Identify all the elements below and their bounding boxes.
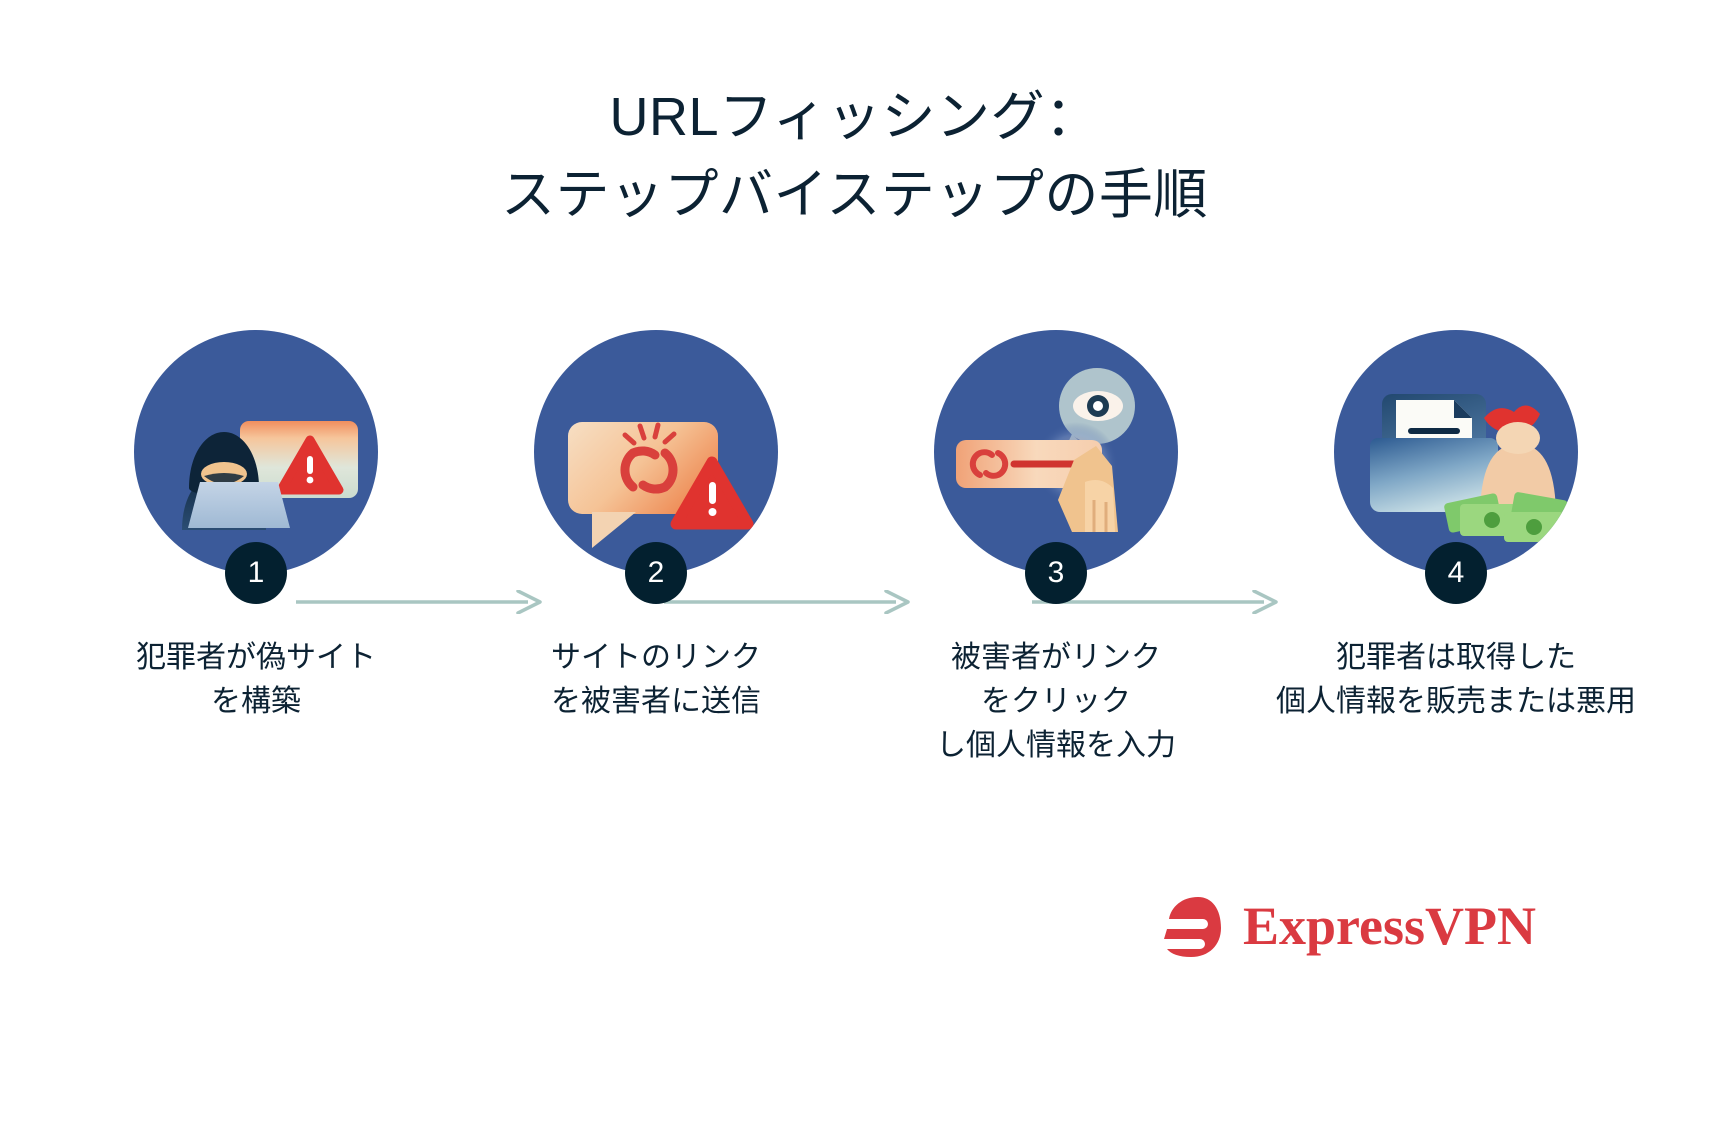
step-3-number-badge: 3 [1025, 542, 1087, 604]
step-1-illustration [134, 330, 378, 574]
step-4-caption: 犯罪者は取得した 個人情報を販売または悪用 [1276, 636, 1636, 724]
folder-documents-icon [1370, 394, 1498, 512]
step-3-caption: 被害者がリンク をクリック し個人情報を入力 [936, 636, 1176, 768]
step-1-caption-line-1: 犯罪者が偽サイト [136, 636, 376, 680]
expressvpn-logo: ExpressVPN [1163, 895, 1536, 957]
step-1: 1 犯罪者が偽サイト を構築 [96, 330, 416, 724]
expressvpn-wordmark: ExpressVPN [1243, 899, 1536, 953]
step-4-number-badge: 4 [1425, 542, 1487, 604]
step-2: 2 サイトのリンク を被害者に送信 [496, 330, 816, 724]
step-4-caption-line-1: 犯罪者は取得した [1276, 636, 1636, 680]
step-2-illustration [534, 330, 778, 574]
step-4: 4 犯罪者は取得した 個人情報を販売または悪用 [1296, 330, 1616, 724]
step-4-caption-line-2: 個人情報を販売または悪用 [1276, 680, 1636, 724]
step-3-caption-line-3: し個人情報を入力 [936, 724, 1176, 768]
step-1-number-badge: 1 [225, 542, 287, 604]
step-3-caption-line-1: 被害者がリンク [936, 636, 1176, 680]
page-title-line-1: URLフィッシング： [0, 78, 1709, 156]
step-3-illustration [934, 330, 1178, 574]
laptop-icon [188, 482, 290, 528]
step-1-caption: 犯罪者が偽サイト を構築 [136, 636, 376, 724]
page-title-line-2: ステップバイステップの手順 [0, 156, 1709, 234]
step-2-number-badge: 2 [625, 542, 687, 604]
step-2-caption: サイトのリンク を被害者に送信 [551, 636, 761, 724]
step-3-caption-line-2: をクリック [936, 680, 1176, 724]
step-2-caption-line-1: サイトのリンク [551, 636, 761, 680]
step-2-caption-line-2: を被害者に送信 [551, 680, 761, 724]
step-1-caption-line-2: を構築 [136, 680, 376, 724]
expressvpn-e-mark-icon [1163, 895, 1229, 957]
step-4-illustration [1334, 330, 1578, 574]
page-title: URLフィッシング： ステップバイステップの手順 [0, 78, 1709, 234]
steps-row: 1 犯罪者が偽サイト を構築 [96, 330, 1616, 768]
step-3: 3 被害者がリンク をクリック し個人情報を入力 [896, 330, 1216, 768]
